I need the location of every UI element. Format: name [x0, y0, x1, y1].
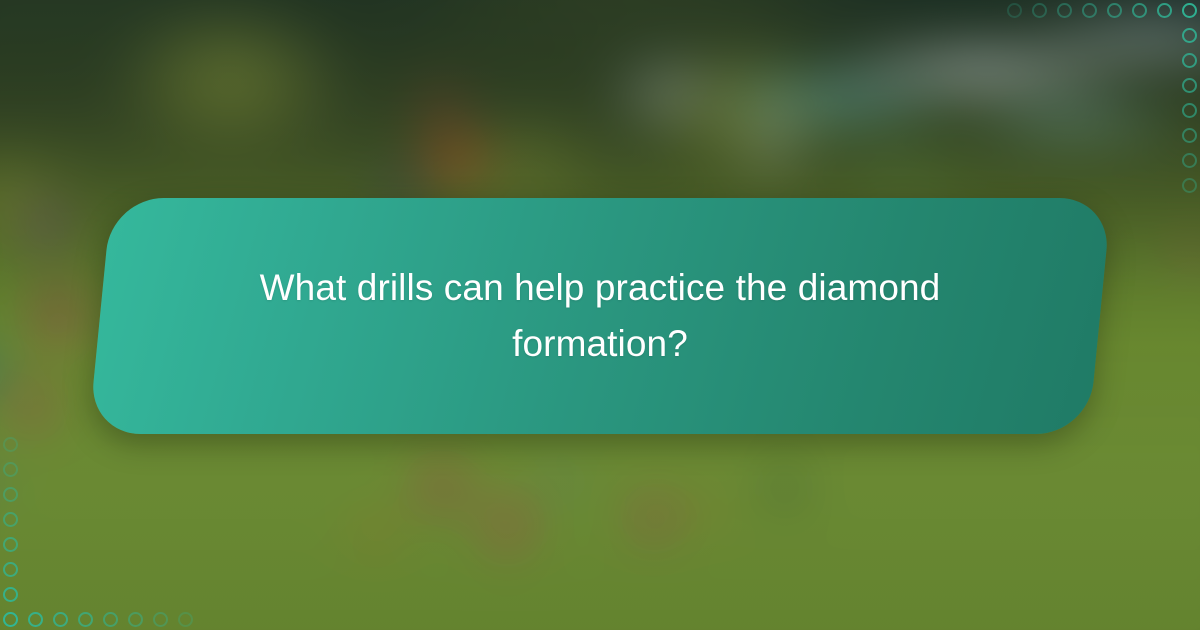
decorative-dot — [153, 612, 168, 627]
decorative-dots-top-right — [980, 0, 1200, 220]
decorative-dot — [3, 587, 18, 602]
question-card-content: What drills can help practice the diamon… — [100, 198, 1100, 434]
decorative-dot — [1182, 28, 1197, 43]
decorative-dots-bottom-left — [0, 410, 220, 630]
decorative-dot — [1082, 3, 1097, 18]
decorative-dot — [1107, 3, 1122, 18]
decorative-dot — [28, 612, 43, 627]
decorative-dot — [128, 612, 143, 627]
decorative-dot — [1182, 128, 1197, 143]
decorative-dot — [1132, 3, 1147, 18]
decorative-dot — [1182, 178, 1197, 193]
decorative-dot — [1182, 103, 1197, 118]
question-text: What drills can help practice the diamon… — [230, 260, 970, 372]
decorative-dot — [3, 537, 18, 552]
decorative-dot — [1182, 3, 1197, 18]
decorative-dot — [3, 512, 18, 527]
decorative-dot — [1182, 53, 1197, 68]
question-card-stage: What drills can help practice the diamon… — [0, 0, 1200, 630]
decorative-dot — [3, 612, 18, 627]
decorative-dot — [3, 437, 18, 452]
question-card: What drills can help practice the diamon… — [100, 198, 1100, 434]
decorative-dot — [78, 612, 93, 627]
decorative-dot — [1007, 3, 1022, 18]
decorative-dot — [3, 462, 18, 477]
decorative-dot — [1182, 78, 1197, 93]
decorative-dot — [103, 612, 118, 627]
decorative-dot — [53, 612, 68, 627]
decorative-dot — [1032, 3, 1047, 18]
decorative-dot — [3, 562, 18, 577]
decorative-dot — [1182, 153, 1197, 168]
decorative-dot — [1057, 3, 1072, 18]
decorative-dot — [178, 612, 193, 627]
decorative-dot — [1157, 3, 1172, 18]
decorative-dot — [3, 487, 18, 502]
